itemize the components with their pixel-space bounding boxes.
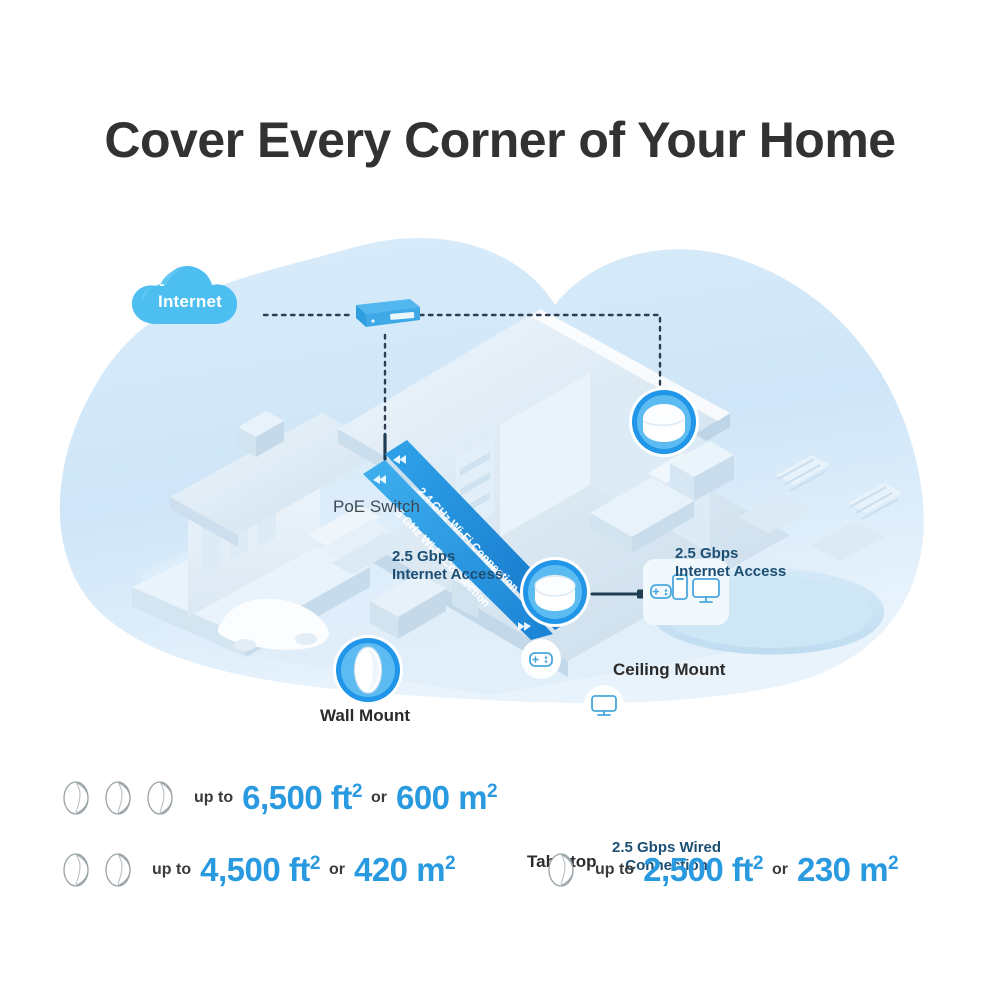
game-controller-icon — [651, 585, 671, 598]
ap-unit-icon — [142, 778, 184, 818]
poe-switch-icon — [350, 297, 422, 331]
ap-unit-icon — [58, 850, 100, 890]
upto-label: up to — [595, 861, 634, 879]
ap-unit-icon — [58, 778, 100, 818]
unit-icon-group-2 — [58, 850, 142, 890]
tabletop-icon — [518, 555, 592, 629]
coverage-imperial-3: 6,500 ft2 — [242, 779, 362, 817]
coverage-imperial-2: 4,500 ft2 — [200, 851, 320, 889]
wall-mount-icon — [331, 633, 405, 707]
coverage-metric-2: 420 m2 — [354, 851, 455, 889]
ceiling-mount-label: Ceiling Mount — [613, 660, 725, 681]
unit-icon-group-3 — [58, 778, 184, 818]
coverage-metric-1: 230 m2 — [797, 851, 898, 889]
coverage-row-1-pack: up to 2,500 ft2 or 230 m2 — [543, 850, 898, 890]
home-coverage-illustration: Internet — [0, 215, 1000, 725]
coverage-imperial-1: 2,500 ft2 — [643, 851, 763, 889]
wall-mount-label: Wall Mount — [320, 706, 410, 727]
internet-access-label-right: 2.5 Gbps Internet Access — [675, 545, 786, 582]
or-label: or — [772, 861, 788, 879]
coverage-row-3-pack: up to 6,500 ft2 or 600 m2 — [58, 778, 497, 818]
ap-unit-icon — [100, 850, 142, 890]
ap-unit-icon — [100, 778, 142, 818]
poe-switch-label: PoE Switch — [333, 497, 420, 518]
coverage-stats: up to 6,500 ft2 or 600 m2 up to 4,500 ft… — [0, 760, 1000, 920]
ceiling-mount-icon — [627, 385, 701, 459]
unit-icon-group-1 — [543, 850, 585, 890]
or-label: or — [371, 789, 387, 807]
page-title: Cover Every Corner of Your Home — [0, 112, 1000, 170]
internet-access-label-left: 2.5 Gbps Internet Access — [392, 548, 503, 585]
upto-label: up to — [152, 861, 191, 879]
coverage-metric-3: 600 m2 — [396, 779, 497, 817]
upto-label: up to — [194, 789, 233, 807]
or-label: or — [329, 861, 345, 879]
coverage-row-2-pack: up to 4,500 ft2 or 420 m2 — [58, 850, 455, 890]
monitor-icon — [693, 579, 719, 602]
ap-unit-icon — [543, 850, 585, 890]
